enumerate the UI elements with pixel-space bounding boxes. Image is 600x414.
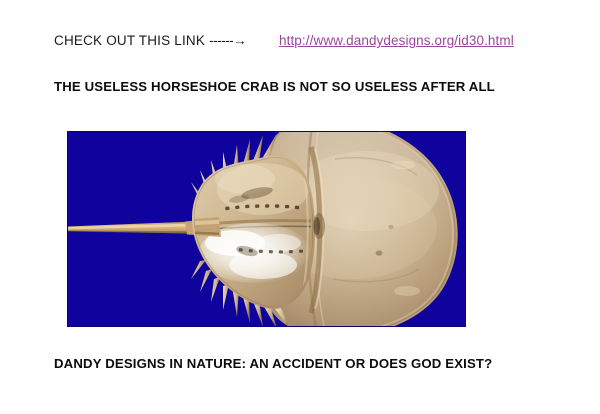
horseshoe-crab-illustration [67,131,466,327]
slide-subtitle: DANDY DESIGNS IN NATURE: AN ACCIDENT OR … [54,356,492,371]
link-callout-row: CHECK OUT THIS LINK ------→ [54,33,246,53]
horseshoe-crab-photo [67,131,466,327]
arrow-right-icon: ------→ [209,33,246,48]
slide-canvas: CHECK OUT THIS LINK ------→ http://www.d… [0,0,600,414]
link-callout-label: CHECK OUT THIS LINK [54,33,205,48]
dandydesigns-url-link[interactable]: http://www.dandydesigns.org/id30.html [279,33,514,48]
page-title: THE USELESS HORSESHOE CRAB IS NOT SO USE… [54,79,495,94]
